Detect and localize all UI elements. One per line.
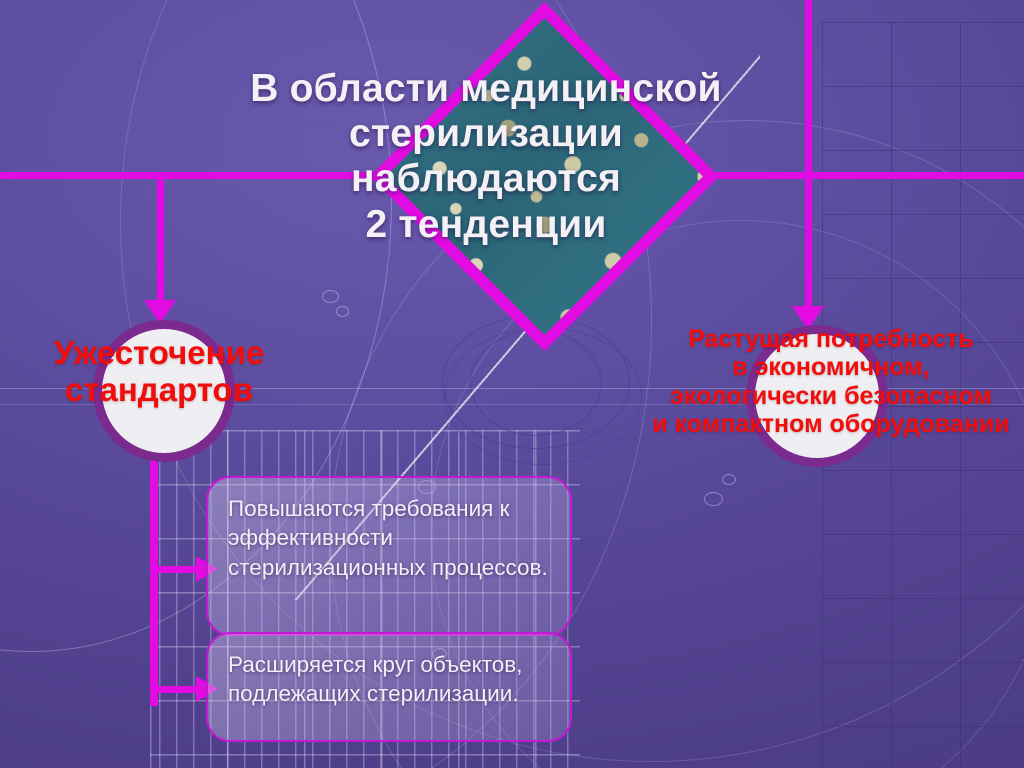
decorative-bubble (336, 306, 349, 317)
connector-elbow-vertical (157, 172, 164, 315)
info-box-1: Повышаются требования к эффективности ст… (206, 476, 572, 636)
decorative-bubble (722, 474, 736, 485)
connector-right-vertical (805, 0, 812, 322)
decorative-bubble (704, 492, 723, 506)
decorative-ellipse (470, 330, 602, 436)
info-box-2: Расширяется круг объектов, подлежащих ст… (206, 632, 572, 742)
slide-title: В области медицинской стерилизации наблю… (186, 66, 786, 247)
decorative-bubble (322, 290, 339, 303)
branch-label-right: Растущая потребность в экономичном, экол… (605, 325, 1024, 438)
slide-canvas: В области медицинской стерилизации наблю… (0, 0, 1024, 768)
connector-left-branch-vertical (150, 440, 158, 706)
branch-label-left: Ужесточение стандартов (0, 334, 324, 409)
